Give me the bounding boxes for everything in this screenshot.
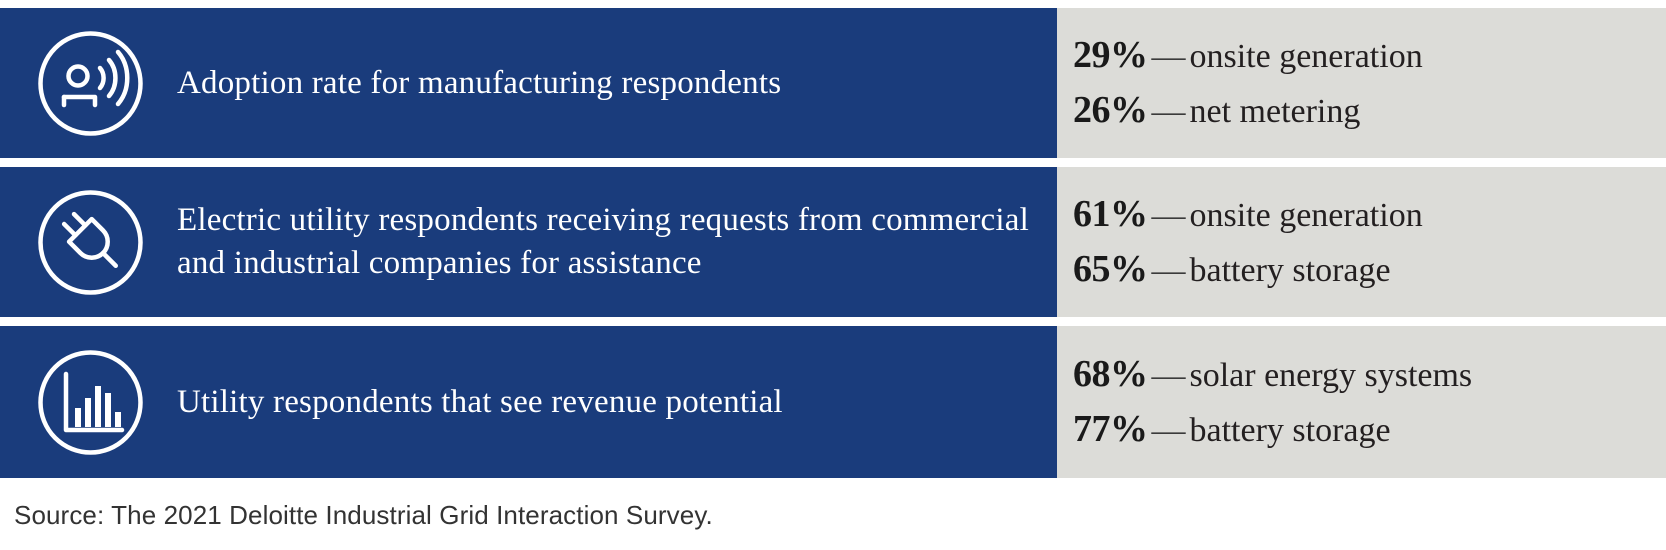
stat-label: solar energy systems <box>1190 357 1473 394</box>
stat-dash: — <box>1148 357 1190 394</box>
stat-dash: — <box>1148 38 1190 75</box>
stat-line: 65%—battery storage <box>1073 242 1666 297</box>
stat-value: 29% <box>1073 34 1148 76</box>
bar-chart-icon <box>34 346 147 459</box>
stat-row: Adoption rate for manufacturing responde… <box>0 8 1666 158</box>
stat-value: 65% <box>1073 248 1148 290</box>
stat-line: 61%—onsite generation <box>1073 187 1666 242</box>
stat-row: Utility respondents that see revenue pot… <box>0 326 1666 478</box>
stat-row: Electric utility respondents receiving r… <box>0 167 1666 317</box>
stat-line: 26%—net metering <box>1073 83 1666 138</box>
stat-dash: — <box>1148 93 1190 130</box>
stat-value: 68% <box>1073 353 1148 395</box>
stat-row-right-panel: 61%—onsite generation 65%—battery storag… <box>1057 167 1666 317</box>
stat-row-left-panel: Adoption rate for manufacturing responde… <box>0 8 1057 158</box>
stat-dash: — <box>1148 197 1190 234</box>
stat-line: 77%—battery storage <box>1073 402 1666 457</box>
stat-row-left-panel: Utility respondents that see revenue pot… <box>0 326 1057 478</box>
stat-value: 61% <box>1073 193 1148 235</box>
stat-row-label: Electric utility respondents receiving r… <box>177 199 1057 285</box>
stat-label: battery storage <box>1190 412 1391 449</box>
electric-plug-icon <box>34 186 147 299</box>
stat-line: 29%—onsite generation <box>1073 28 1666 83</box>
stat-label: net metering <box>1190 93 1361 130</box>
stat-value: 77% <box>1073 408 1148 450</box>
stat-row-label: Utility respondents that see revenue pot… <box>177 381 803 424</box>
stat-row-left-panel: Electric utility respondents receiving r… <box>0 167 1057 317</box>
stat-dash: — <box>1148 412 1190 449</box>
stat-value: 26% <box>1073 89 1148 131</box>
stat-row-list: Adoption rate for manufacturing responde… <box>0 8 1666 478</box>
stat-row-right-panel: 29%—onsite generation 26%—net metering <box>1057 8 1666 158</box>
stat-label: onsite generation <box>1190 197 1423 234</box>
broadcast-signal-icon <box>34 27 147 140</box>
source-note: Source: The 2021 Deloitte Industrial Gri… <box>14 500 1666 531</box>
stat-label: onsite generation <box>1190 38 1423 75</box>
stat-dash: — <box>1148 252 1190 289</box>
stat-row-label: Adoption rate for manufacturing responde… <box>177 62 801 105</box>
stat-row-right-panel: 68%—solar energy systems 77%—battery sto… <box>1057 326 1666 478</box>
stat-line: 68%—solar energy systems <box>1073 347 1666 402</box>
infographic-container: Adoption rate for manufacturing responde… <box>0 0 1666 550</box>
stat-label: battery storage <box>1190 252 1391 289</box>
